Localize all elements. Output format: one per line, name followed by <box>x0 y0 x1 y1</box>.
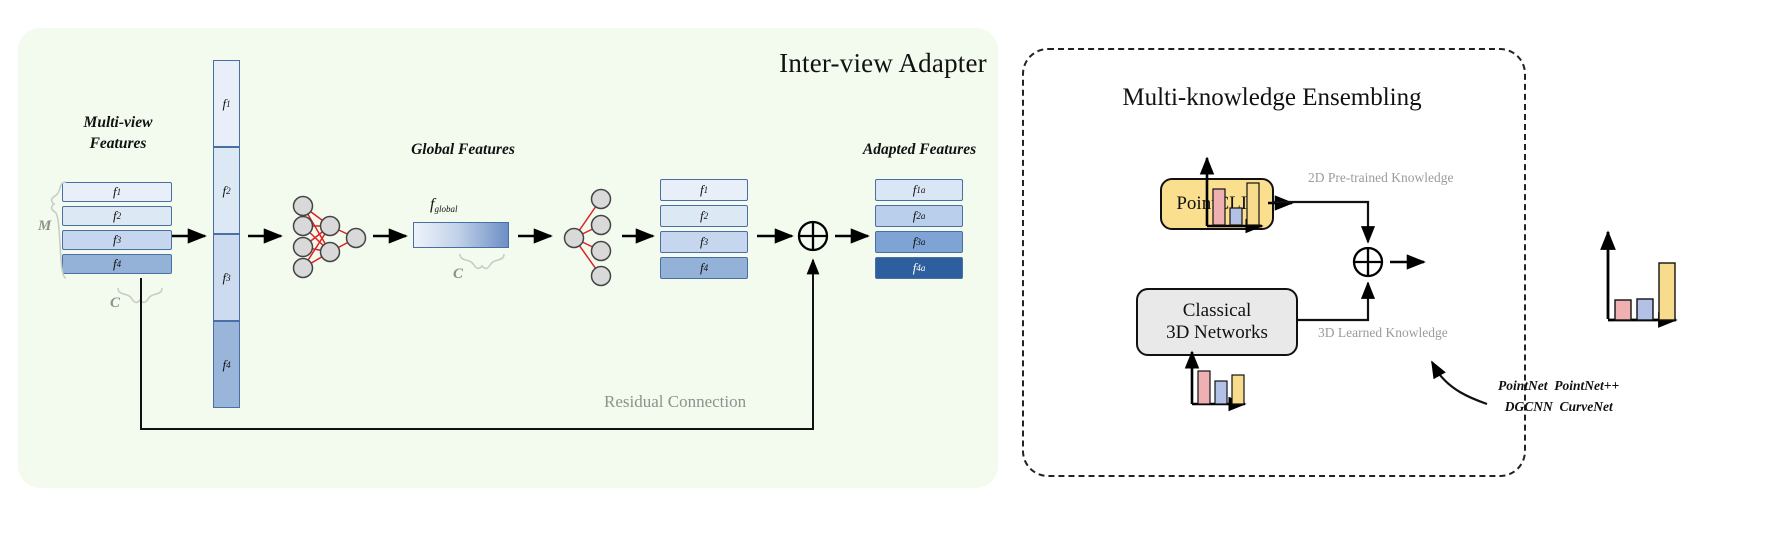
residual-connection-label: Residual Connection <box>604 392 746 412</box>
concat-segment-1: f1 <box>213 60 240 147</box>
multiview-row-1: f1 <box>62 182 172 202</box>
adapted-row-3: f3a <box>875 231 963 253</box>
c-dimension-label-global: C <box>453 266 463 283</box>
right-panel-title: Multi-knowledge Ensembling <box>1022 84 1522 112</box>
expanded-row-2-index: 2 <box>704 211 709 221</box>
pointclip-label: PointCLIP <box>1176 193 1257 215</box>
c-dimension-label-left: C <box>110 295 120 312</box>
multiview-row-2: f2 <box>62 206 172 226</box>
network-list: PointNet PointNet++ DGCNN CurveNet <box>1498 376 1619 418</box>
adapted-row-2-sup: a <box>921 211 926 221</box>
concatenated-feature-bar: f1 f2 f3 f4 <box>213 60 240 408</box>
adapted-row-1: f1a <box>875 179 963 201</box>
expanded-row-1-index: 1 <box>704 185 709 195</box>
classical-label-line1: Classical <box>1183 300 1252 321</box>
network-pointnetpp: PointNet++ <box>1554 378 1619 393</box>
multi-knowledge-ensembling-panel <box>1022 48 1526 477</box>
multiview-row-3-index: 3 <box>117 235 122 245</box>
adapted-row-4: f4a <box>875 257 963 279</box>
multiview-label-line2: Features <box>90 135 147 152</box>
knowledge-3d-label: 3D Learned Knowledge <box>1318 325 1448 341</box>
multiview-feature-stack: f1 f2 f3 f4 <box>62 182 172 278</box>
pointclip-box[interactable]: PointCLIP <box>1160 178 1274 230</box>
classical-label: Classical 3D Networks <box>1166 300 1268 345</box>
multiview-row-1-index: 1 <box>117 187 122 197</box>
concat-segment-2-index: 2 <box>226 186 231 196</box>
multiview-row-2-index: 2 <box>117 211 122 221</box>
global-feature-bar <box>413 222 509 248</box>
global-features-label: Global Features <box>388 140 538 161</box>
m-dimension-label: M <box>38 218 51 235</box>
expanded-row-4-index: 4 <box>704 263 709 273</box>
adapted-row-1-sup: a <box>921 185 926 195</box>
network-curvenet: CurveNet <box>1560 399 1613 414</box>
multiview-row-3: f3 <box>62 230 172 250</box>
concat-segment-3: f3 <box>213 234 240 321</box>
expanded-row-3-index: 3 <box>704 237 709 247</box>
expanded-feature-stack: f1 f2 f3 f4 <box>660 179 748 283</box>
adapted-row-4-sup: a <box>921 263 926 273</box>
f-global-subscript: global <box>434 204 457 214</box>
expanded-row-1: f1 <box>660 179 748 201</box>
multiview-row-4-index: 4 <box>117 259 122 269</box>
network-dgcnn: DGCNN <box>1505 399 1553 414</box>
network-pointnet: PointNet <box>1498 378 1548 393</box>
adapted-row-3-sup: a <box>921 237 926 247</box>
knowledge-2d-label: 2D Pre-trained Knowledge <box>1308 170 1453 186</box>
concat-segment-1-index: 1 <box>226 99 231 109</box>
expanded-row-4: f4 <box>660 257 748 279</box>
adapted-features-label: Adapted Features <box>832 140 1007 161</box>
adapted-row-2: f2a <box>875 205 963 227</box>
multiview-features-label: Multi-view Features <box>58 113 178 155</box>
concat-segment-4: f4 <box>213 321 240 408</box>
adapted-feature-stack: f1a f2a f3a f4a <box>875 179 963 283</box>
classical-label-line2: 3D Networks <box>1166 322 1268 343</box>
f-global-symbol: fglobal <box>430 196 457 214</box>
chart-ensembled-logits <box>1608 232 1676 320</box>
expanded-row-2: f2 <box>660 205 748 227</box>
expanded-row-3: f3 <box>660 231 748 253</box>
multiview-label-line1: Multi-view <box>84 114 153 131</box>
concat-segment-3-index: 3 <box>226 273 231 283</box>
concat-segment-2: f2 <box>213 147 240 234</box>
multiview-row-4: f4 <box>62 254 172 274</box>
classical-3d-networks-box[interactable]: Classical 3D Networks <box>1136 288 1298 356</box>
concat-segment-4-index: 4 <box>226 360 231 370</box>
